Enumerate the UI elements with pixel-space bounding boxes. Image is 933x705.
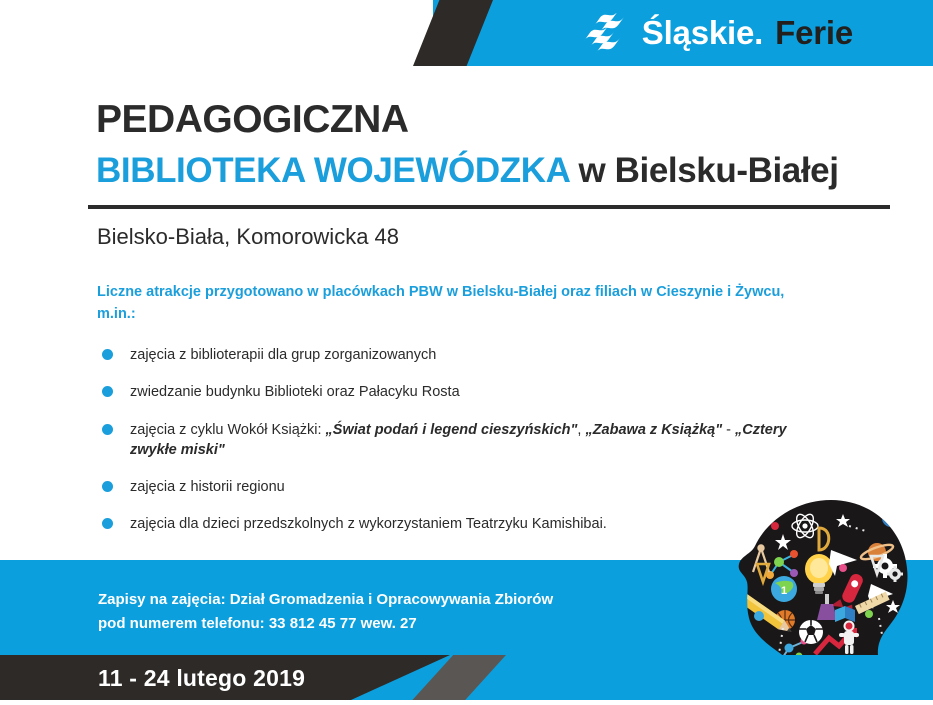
slaskie-waves-logo-icon [580, 13, 626, 53]
contact-line-2: pod numerem telefonu: 33 812 45 77 wew. … [98, 612, 553, 636]
book-title-2: „Zabawa z Książką" [585, 422, 722, 438]
book-title-1: „Świat podań i legend cieszyńskich" [326, 422, 578, 438]
bullet-dot-icon [102, 386, 113, 397]
list-item-label: zajęcia dla dzieci przedszkolnych z wyko… [130, 516, 607, 532]
contact-info: Zapisy na zajęcia: Dział Gromadzenia i O… [98, 588, 553, 636]
bullet-dot-icon [102, 481, 113, 492]
list-item-label: zajęcia z biblioterapii dla grup zorgani… [130, 347, 436, 363]
title-w-bielsku-bialej: w Bielsku-Białej [569, 151, 838, 190]
brand-primary-label: Śląskie. [642, 14, 763, 51]
list-item: zwiedzanie budynku Biblioteki oraz Pałac… [100, 382, 800, 402]
header-brand-group: Śląskie.Ferie [580, 0, 933, 66]
svg-text:1: 1 [781, 585, 787, 597]
title-divider-rule [88, 205, 890, 209]
intro-paragraph: Liczne atrakcje przygotowano w placówkac… [97, 281, 807, 326]
date-range-label: 11 - 24 lutego 2019 [98, 665, 305, 692]
title-line-pedagogiczna: PEDAGOGICZNA [96, 100, 896, 139]
title-biblioteka-wojewodzka: BIBLIOTEKA WOJEWÓDZKA [96, 151, 569, 190]
list-item: zajęcia z cyklu Wokół Książki: „Świat po… [100, 420, 800, 461]
list-item-label-prefix: zajęcia z cyklu Wokół Książki: [130, 422, 326, 438]
attractions-list: zajęcia z biblioterapii dla grup zorgani… [100, 345, 800, 552]
bullet-dot-icon [102, 518, 113, 529]
header-banner: Śląskie.Ferie [0, 0, 933, 66]
title-separator-2: - [722, 422, 735, 438]
title-line-biblioteka: BIBLIOTEKA WOJEWÓDZKA w Bielsku-Białej [96, 153, 896, 188]
list-item: zajęcia z historii regionu [100, 477, 800, 497]
page-title: PEDAGOGICZNA BIBLIOTEKA WOJEWÓDZKA w Bie… [96, 100, 896, 188]
contact-line-1: Zapisy na zajęcia: Dział Gromadzenia i O… [98, 588, 553, 612]
list-item: zajęcia dla dzieci przedszkolnych z wyko… [100, 514, 800, 534]
bullet-dot-icon [102, 424, 113, 435]
bullet-dot-icon [102, 349, 113, 360]
address-line: Bielsko-Biała, Komorowicka 48 [97, 224, 399, 250]
brand-secondary-label: Ferie [775, 14, 853, 51]
list-item-label: zajęcia z historii regionu [130, 479, 285, 495]
list-item: zajęcia z biblioterapii dla grup zorgani… [100, 345, 800, 365]
list-item-label: zwiedzanie budynku Biblioteki oraz Pałac… [130, 384, 460, 400]
